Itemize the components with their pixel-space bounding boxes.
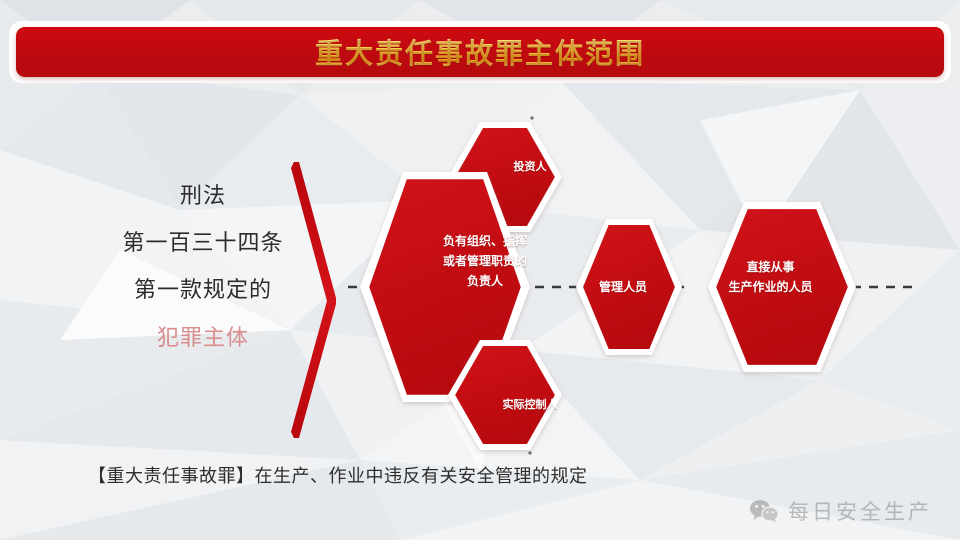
wechat-icon: [749, 499, 779, 523]
hexagon-manager[interactable]: [576, 219, 682, 355]
title-banner-fill: 重大责任事故罪主体范围: [16, 27, 944, 77]
bottom-caption: 【重大责任事故罪】在生产、作业中违反有关安全管理的规定: [88, 462, 588, 488]
watermark: 每日安全生产: [749, 496, 932, 526]
page-title: 重大责任事故罪主体范围: [315, 32, 645, 72]
red-chevron-arrow: [278, 160, 348, 440]
hexagon-diagram: [340, 105, 920, 465]
slide-canvas: 重大责任事故罪主体范围 刑法 第一百三十四条 第一款规定的 犯罪主体: [0, 0, 960, 540]
hexagon-operator[interactable]: [708, 202, 856, 372]
title-banner: 重大责任事故罪主体范围: [10, 22, 950, 82]
watermark-text: 每日安全生产: [788, 496, 932, 526]
